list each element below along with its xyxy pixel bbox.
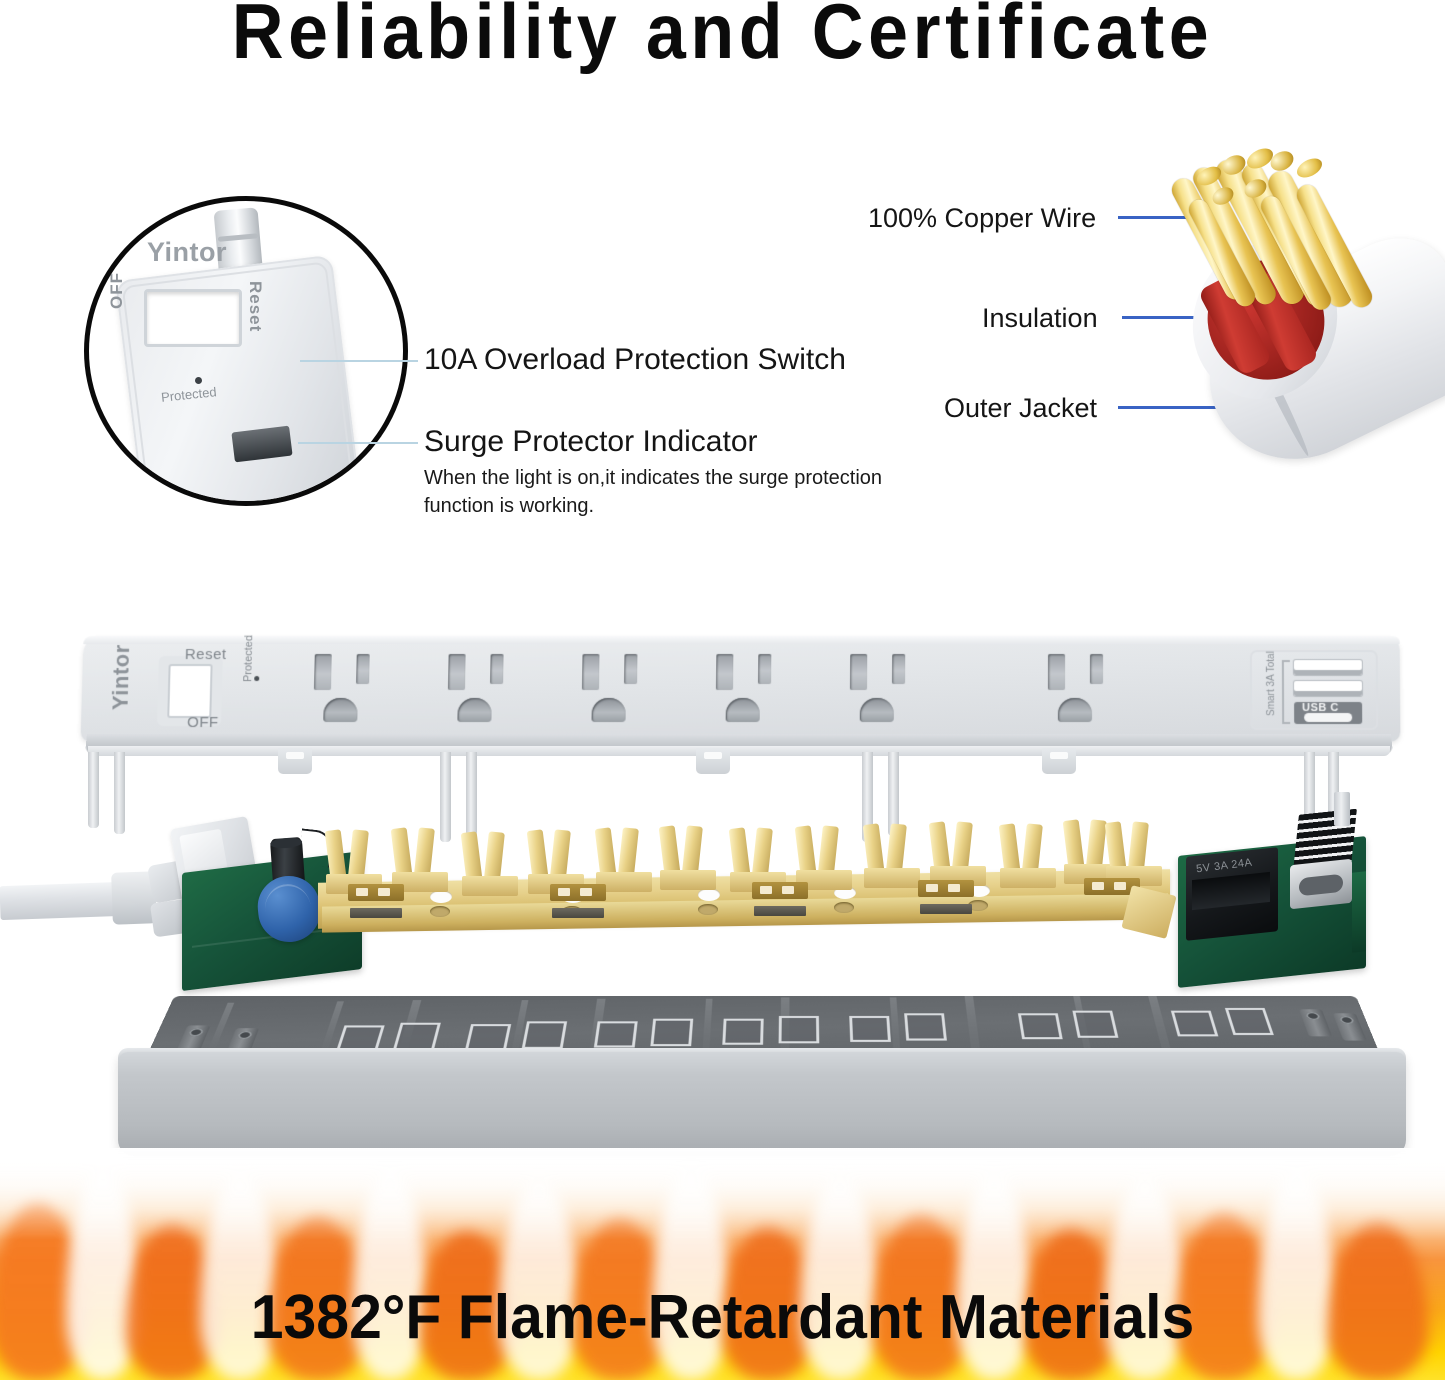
busbar-terminal-tab bbox=[550, 884, 606, 901]
socket-cavity bbox=[522, 1021, 567, 1049]
callout-title-surge: Surge Protector Indicator bbox=[424, 425, 758, 459]
contact-clip-pair bbox=[1106, 822, 1162, 884]
outlet-slot-left bbox=[1048, 654, 1065, 690]
inset-off-label: OFF bbox=[107, 272, 127, 309]
outlet-slot-right bbox=[758, 654, 771, 684]
contact-clip-pair bbox=[930, 822, 986, 884]
busbar-foot bbox=[920, 904, 972, 914]
socket-cavity bbox=[722, 1019, 763, 1045]
contact-clip-base bbox=[462, 876, 518, 896]
outlet-slot-left bbox=[448, 654, 466, 690]
outlet-slot-right bbox=[490, 654, 504, 684]
outlet-ground-slot bbox=[457, 698, 491, 722]
outlet-2[interactable] bbox=[441, 654, 534, 728]
power-strip-bottom-housing bbox=[118, 956, 1406, 1170]
busbar-hole-lower bbox=[430, 906, 450, 917]
outlet-slot-left bbox=[850, 654, 867, 690]
contact-clip-pair bbox=[392, 828, 448, 890]
socket-cavity bbox=[849, 1016, 891, 1042]
socket-cavity bbox=[1225, 1008, 1274, 1035]
strip-top-face: Yintor Reset OFF Protected bbox=[80, 636, 1400, 742]
strip-indicator-dot bbox=[254, 676, 259, 681]
usb-c-opening bbox=[1304, 713, 1352, 722]
socket-cavity bbox=[594, 1021, 638, 1047]
strip-reset-label: Reset bbox=[185, 646, 227, 663]
contact-clip-pair bbox=[660, 826, 716, 888]
contact-clip-pair bbox=[326, 830, 382, 892]
outlet-ground-slot bbox=[1058, 698, 1092, 722]
outlet-1[interactable] bbox=[307, 654, 401, 728]
usb-a-port-1[interactable] bbox=[1294, 660, 1362, 675]
inset-indicator-dot bbox=[195, 377, 202, 384]
usb-pcb-edge bbox=[1352, 871, 1366, 952]
flame-retardant-banner: 1382°F Flame-Retardant Materials bbox=[36, 1282, 1409, 1353]
socket-cavity bbox=[1171, 1011, 1219, 1037]
outlet-slot-right bbox=[892, 654, 905, 684]
contact-clip-pair bbox=[528, 830, 584, 892]
housing-clip bbox=[1042, 748, 1076, 774]
leader-line-overload bbox=[300, 360, 418, 362]
socket-cavity bbox=[465, 1024, 511, 1050]
socket-cavity bbox=[1072, 1011, 1118, 1038]
contact-clip-pair bbox=[796, 826, 852, 888]
busbar-foot bbox=[754, 906, 806, 916]
contact-clip-pair bbox=[730, 828, 786, 890]
usb-smart-label: Smart 3A Total bbox=[1266, 651, 1277, 716]
copper-wire-illustration bbox=[1168, 150, 1445, 450]
breaker-closeup-inset: Yintor OFF Reset Protected bbox=[84, 196, 408, 506]
outlet-ground-slot bbox=[726, 698, 760, 722]
wire-label-jacket: Outer Jacket bbox=[944, 393, 1097, 424]
housing-post bbox=[466, 752, 477, 836]
busbar-foot bbox=[350, 908, 402, 918]
housing-clip bbox=[696, 748, 730, 774]
outlet-ground-slot bbox=[860, 698, 894, 722]
usb-c-port[interactable]: USB C bbox=[1294, 702, 1362, 724]
wire-label-insulation: Insulation bbox=[982, 303, 1098, 334]
page-title: Reliability and Certificate bbox=[58, 0, 1387, 77]
housing-outer-wall bbox=[118, 1052, 1406, 1156]
outlet-slot-left bbox=[582, 654, 600, 690]
contact-clip-base bbox=[1000, 868, 1056, 888]
outlet-slot-right bbox=[356, 654, 370, 684]
busbar-terminal-tab bbox=[348, 884, 404, 901]
busbar-hole-lower bbox=[698, 904, 718, 915]
strip-protected-label: Protected bbox=[242, 635, 255, 682]
usb-port-panel[interactable]: Smart 3A Total USB C bbox=[1250, 650, 1378, 730]
strip-off-label: OFF bbox=[187, 714, 219, 731]
outlet-3[interactable] bbox=[575, 654, 668, 728]
outlet-slot-right bbox=[624, 654, 637, 684]
housing-post bbox=[88, 752, 99, 828]
heatsink-post bbox=[1334, 792, 1350, 826]
breaker-window bbox=[167, 664, 212, 718]
contact-clip-base bbox=[660, 870, 716, 890]
busbar-end-terminal bbox=[1121, 885, 1176, 939]
usb-a-port-2[interactable] bbox=[1294, 681, 1362, 696]
inset-brand-label: Yintor bbox=[147, 237, 227, 268]
outlet-ground-slot bbox=[592, 698, 626, 722]
busbar-terminal-tab bbox=[752, 882, 808, 899]
power-strip-top-cover: Yintor Reset OFF Protected bbox=[82, 636, 1400, 756]
callout-desc-surge: When the light is on,it indicates the su… bbox=[424, 464, 894, 521]
housing-clip bbox=[278, 748, 312, 774]
wire-label-copper: 100% Copper Wire bbox=[868, 203, 1096, 234]
socket-cavity bbox=[650, 1019, 693, 1046]
copper-strand-end bbox=[1294, 155, 1325, 182]
contact-clip-base bbox=[864, 868, 920, 888]
contact-clip-pair bbox=[1000, 824, 1056, 886]
strip-brand-label: Yintor bbox=[107, 644, 135, 710]
busbar-foot bbox=[552, 908, 604, 918]
outlet-slot-left bbox=[716, 654, 733, 690]
usb-bracket-icon bbox=[1282, 660, 1290, 724]
outlet-slot-right bbox=[1090, 654, 1103, 684]
contact-clip-pair bbox=[596, 828, 652, 890]
busbar-hole-lower bbox=[834, 902, 854, 913]
housing-post bbox=[114, 752, 125, 834]
socket-cavity bbox=[393, 1023, 441, 1051]
screw-boss bbox=[1333, 1013, 1367, 1040]
outlet-6[interactable] bbox=[1042, 654, 1134, 728]
socket-cavity bbox=[779, 1016, 820, 1043]
inset-reset-label: Reset bbox=[245, 281, 265, 332]
outlet-slot-left bbox=[314, 654, 332, 690]
contact-clip-pair bbox=[864, 824, 920, 886]
outlet-ground-slot bbox=[323, 698, 358, 722]
busbar-terminal-tab bbox=[918, 880, 974, 897]
screw-boss bbox=[1299, 1009, 1332, 1036]
power-cord bbox=[0, 882, 125, 920]
outlet-4[interactable] bbox=[710, 654, 803, 728]
socket-cavity bbox=[1018, 1013, 1063, 1039]
inset-breaker-window bbox=[144, 289, 242, 347]
contact-clip-pair bbox=[462, 832, 518, 894]
outlet-5[interactable] bbox=[844, 654, 936, 728]
flame-top-fade bbox=[0, 1148, 1445, 1240]
leader-line-surge bbox=[298, 442, 418, 444]
socket-cavity bbox=[904, 1013, 947, 1040]
usb-c-connector bbox=[1290, 859, 1352, 910]
callout-title-overload: 10A Overload Protection Switch bbox=[424, 343, 846, 377]
